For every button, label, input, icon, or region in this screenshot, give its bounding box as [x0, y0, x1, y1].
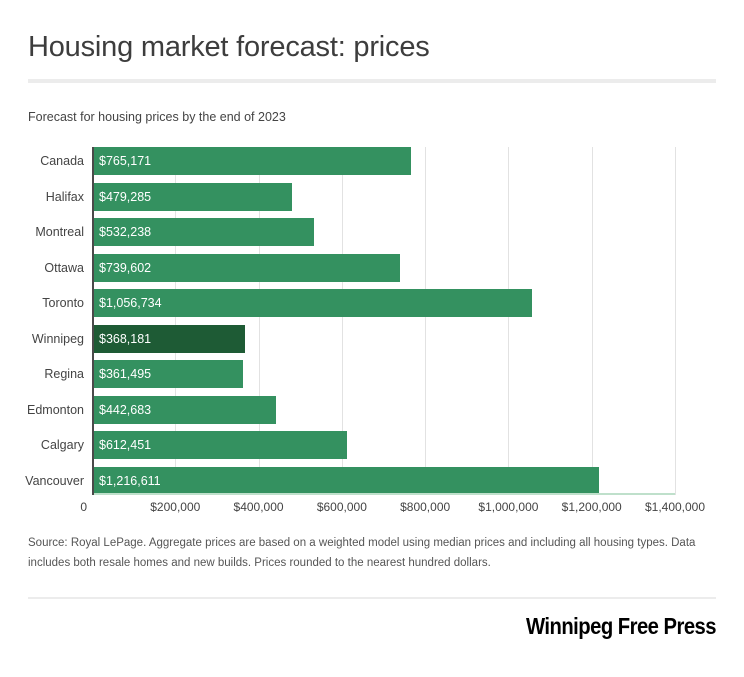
x-axis-tick-label: $1,200,000 — [562, 500, 622, 514]
bar-value-label: $361,495 — [92, 367, 151, 381]
bar-row: Montreal$532,238 — [92, 218, 675, 246]
plot-area: Canada$765,171Halifax$479,285Montreal$53… — [92, 147, 675, 495]
bar-value-label: $1,056,734 — [92, 296, 162, 310]
bar-toronto[interactable]: $1,056,734 — [92, 289, 532, 317]
bar-winnipeg[interactable]: $368,181 — [92, 325, 245, 353]
bar-row: Edmonton$442,683 — [92, 396, 675, 424]
source-note: Source: Royal LePage. Aggregate prices a… — [28, 533, 716, 573]
category-label-edmonton: Edmonton — [27, 403, 84, 417]
bar-halifax[interactable]: $479,285 — [92, 183, 292, 211]
bar-value-label: $739,602 — [92, 261, 151, 275]
bar-vancouver[interactable]: $1,216,611 — [92, 467, 599, 495]
x-axis-tick-label: $800,000 — [400, 500, 450, 514]
chart-page: Housing market forecast: prices Forecast… — [0, 0, 744, 677]
category-label-canada: Canada — [40, 154, 84, 168]
category-label-winnipeg: Winnipeg — [32, 332, 84, 346]
bar-value-label: $368,181 — [92, 332, 151, 346]
bar-montreal[interactable]: $532,238 — [92, 218, 314, 246]
bar-value-label: $1,216,611 — [92, 474, 161, 488]
category-label-toronto: Toronto — [42, 296, 84, 310]
x-axis-tick-label: $200,000 — [150, 500, 200, 514]
bar-value-label: $532,238 — [92, 225, 151, 239]
x-axis: 0$200,000$400,000$600,000$800,000$1,000,… — [92, 495, 675, 525]
x-axis-tick-label: $400,000 — [234, 500, 284, 514]
bar-value-label: $612,451 — [92, 438, 151, 452]
bar-row: Regina$361,495 — [92, 360, 675, 388]
x-axis-tick-label: 0 — [80, 500, 87, 514]
bar-ottawa[interactable]: $739,602 — [92, 254, 400, 282]
category-label-montreal: Montreal — [35, 225, 84, 239]
bar-row: Toronto$1,056,734 — [92, 289, 675, 317]
x-axis-tick-label: $600,000 — [317, 500, 367, 514]
bar-edmonton[interactable]: $442,683 — [92, 396, 276, 424]
title-divider — [28, 79, 716, 83]
bar-row: Canada$765,171 — [92, 147, 675, 175]
footer-divider — [28, 597, 716, 599]
brand-logo: Winnipeg Free Press — [111, 613, 716, 640]
bar-row: Winnipeg$368,181 — [92, 325, 675, 353]
bar-value-label: $479,285 — [92, 190, 151, 204]
bar-rows: Canada$765,171Halifax$479,285Montreal$53… — [92, 147, 675, 495]
page-title: Housing market forecast: prices — [28, 0, 716, 65]
category-label-ottawa: Ottawa — [44, 261, 84, 275]
gridline — [675, 147, 676, 495]
bar-row: Vancouver$1,216,611 — [92, 467, 675, 495]
x-axis-baseline — [92, 493, 675, 495]
category-label-vancouver: Vancouver — [25, 474, 84, 488]
bar-value-label: $442,683 — [92, 403, 151, 417]
x-axis-tick-label: $1,000,000 — [478, 500, 538, 514]
category-label-halifax: Halifax — [46, 190, 84, 204]
category-label-calgary: Calgary — [41, 438, 84, 452]
y-axis-spine — [92, 147, 94, 495]
bar-calgary[interactable]: $612,451 — [92, 431, 347, 459]
bar-row: Ottawa$739,602 — [92, 254, 675, 282]
bar-canada[interactable]: $765,171 — [92, 147, 411, 175]
bar-chart: Canada$765,171Halifax$479,285Montreal$53… — [28, 147, 716, 525]
bar-row: Halifax$479,285 — [92, 183, 675, 211]
chart-subtitle: Forecast for housing prices by the end o… — [28, 109, 716, 125]
bar-regina[interactable]: $361,495 — [92, 360, 243, 388]
bar-row: Calgary$612,451 — [92, 431, 675, 459]
x-axis-tick-label: $1,400,000 — [645, 500, 705, 514]
category-label-regina: Regina — [44, 367, 84, 381]
bar-value-label: $765,171 — [92, 154, 151, 168]
